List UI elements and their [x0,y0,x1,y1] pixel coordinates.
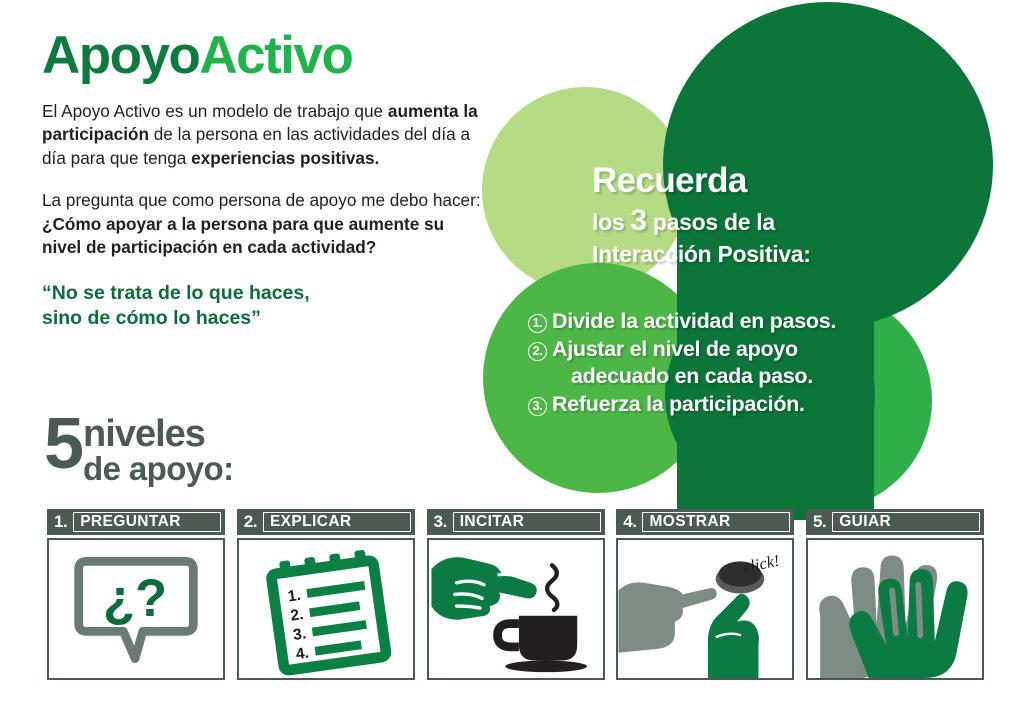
card-number: 2. [244,512,257,532]
card-header: 5. GUIAR [806,509,984,535]
recuerda-title: Recuerda [592,163,922,198]
step-text: Divide la actividad en pasos. [552,308,908,336]
levels-word-niveles: niveles [83,417,233,452]
levels-number: 5 [44,415,81,474]
card-label: EXPLICAR [263,512,411,532]
card-illustration: ¿? [47,538,225,680]
recuerda-sub-number: 3 [630,204,646,237]
card-number: 5. [813,512,826,532]
speech-bubble-question-icon: ¿? [49,540,223,678]
intro-paragraph: El Apoyo Activo es un modelo de trabajo … [42,100,482,171]
list-item: 2. Ajustar el nivel de apoyo adecuado en… [528,336,908,391]
steps-list: 1. Divide la actividad en pasos. 2. Ajus… [528,308,908,418]
step-text: Ajustar el nivel de apoyo adecuado en ca… [552,336,908,391]
support-levels-card-row: 1. PREGUNTAR ¿? 2. EXPLICAR [47,509,984,684]
svg-text:3.: 3. [292,625,307,644]
infographic-poster: ApoyoActivo El Apoyo Activo es un modelo… [0,0,1024,725]
support-level-card-3[interactable]: 3. INCITAR [427,509,605,684]
click-caption: click! [742,551,782,577]
step-number-badge: 1. [528,314,547,333]
card-label: INCITAR [453,512,601,532]
brand-word-activo: Activo [199,26,352,85]
svg-text:4.: 4. [295,645,310,664]
card-header: 4. MOSTRAR [616,509,794,535]
levels-words: niveles de apoyo: [83,417,233,485]
card-header: 3. INCITAR [427,509,605,535]
step-number-badge: 3. [528,397,547,416]
hands-pressing-button-icon: click! [618,540,792,678]
intro-line1: El Apoyo Activo es un modelo de trabajo … [42,101,388,121]
recuerda-sub-post: pasos de la [647,209,775,235]
recuerda-block: Recuerda los 3 pasos de laInteracción Po… [592,163,922,269]
list-item: 3. Refuerza la participación. [528,391,908,419]
step-text-line2: adecuado en cada paso. [552,363,908,391]
recuerda-sub-line2: Interacción Positiva: [592,241,811,267]
hand-pointing-coffee-cup-icon [429,540,603,678]
intro-bold2: experiencias positivas. [191,148,379,168]
step-number-badge: 2. [528,342,547,361]
quote-line-1: “No se trata de lo que haces, [42,282,310,304]
step-text-line1: Ajustar el nivel de apoyo [552,337,798,361]
page-title: ApoyoActivo [42,28,482,84]
card-illustration [427,538,605,680]
card-label: PREGUNTAR [73,512,221,532]
support-level-card-1[interactable]: 1. PREGUNTAR ¿? [47,509,225,684]
hand-over-hand-icon [808,540,982,678]
card-illustration [806,538,984,680]
levels-heading: 5 niveles de apoyo: [44,415,234,485]
recuerda-subtitle: los 3 pasos de laInteracción Positiva: [592,202,922,269]
question-lead: La pregunta que como persona de apoyo me… [42,190,481,210]
step-text: Refuerza la participación. [552,391,908,419]
support-level-card-5[interactable]: 5. GUIAR [806,509,984,684]
levels-word-de-apoyo: de apoyo: [83,452,233,485]
card-number: 3. [434,512,447,532]
list-item: 1. Divide la actividad en pasos. [528,308,908,336]
card-number: 4. [623,512,636,532]
card-header: 1. PREGUNTAR [47,509,225,535]
step-text-line1: Divide la actividad en pasos. [552,309,836,333]
card-illustration: 1. 2. 3. 4. [237,538,415,680]
support-level-card-2[interactable]: 2. EXPLICAR [237,509,415,684]
step-text-line1: Refuerza la participación. [552,392,805,416]
card-number: 1. [54,512,67,532]
card-label: GUIAR [832,512,980,532]
left-text-column: ApoyoActivo El Apoyo Activo es un modelo… [42,28,482,332]
svg-text:¿?: ¿? [103,570,167,628]
brand-word-apoyo: Apoyo [42,26,199,85]
card-illustration: click! [616,538,794,680]
svg-text:1.: 1. [286,587,301,606]
svg-text:2.: 2. [289,606,304,625]
recuerda-sub-pre: los [592,209,630,235]
card-header: 2. EXPLICAR [237,509,415,535]
question-paragraph: La pregunta que como persona de apoyo me… [42,189,482,260]
question-bold: ¿Cómo apoyar a la persona para que aumen… [42,214,444,258]
notepad-list-icon: 1. 2. 3. 4. [239,540,413,678]
quote-block: “No se trata de lo que haces, sino de có… [42,281,482,332]
quote-line-2: sino de cómo lo haces” [42,307,261,329]
card-label: MOSTRAR [642,512,790,532]
support-level-card-4[interactable]: 4. MOSTRAR click! [616,509,794,684]
